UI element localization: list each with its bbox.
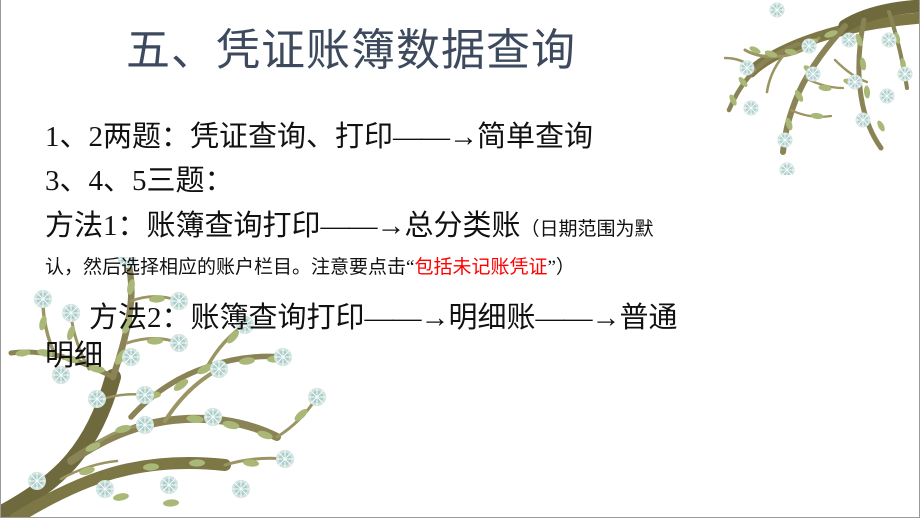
method-1-label: 方法1：账簿查询打印 bbox=[45, 210, 321, 242]
bullet-line-1-prefix: 1、2两题：凭证查询、打印 bbox=[45, 121, 393, 153]
bullet-line-1-suffix: 简单查询 bbox=[477, 121, 593, 153]
slide-canvas: 五、凭证账簿数据查询 1、2两题：凭证查询、打印——→简单查询 3、4、5三题：… bbox=[0, 0, 920, 518]
bullet-line-2: 3、4、5三题： bbox=[45, 162, 685, 200]
method-1-target: 总分类账 bbox=[405, 210, 521, 242]
bullet-line-2-text: 3、4、5三题： bbox=[45, 165, 234, 197]
arrow-icon-4: ——→ bbox=[536, 302, 620, 334]
method-1-note-highlight: 包括未记账凭证 bbox=[414, 257, 547, 278]
page-title: 五、凭证账簿数据查询 bbox=[1, 26, 701, 77]
method-2-target-1: 明细账 bbox=[449, 302, 536, 334]
arrow-icon-1: ——→ bbox=[393, 121, 477, 153]
body-text-block: 1、2两题：凭证查询、打印——→简单查询 3、4、5三题： 方法1：账簿查询打印… bbox=[45, 118, 685, 376]
method-1-note-close: ”） bbox=[547, 257, 574, 278]
arrow-icon-2: ——→ bbox=[321, 210, 405, 242]
arrow-icon-3: ——→ bbox=[365, 302, 449, 334]
method-2-block: 方法2：账簿查询打印——→明细账——→普通明细 bbox=[45, 299, 685, 376]
method-2-label: 方法2：账簿查询打印 bbox=[89, 302, 365, 334]
bullet-line-1: 1、2两题：凭证查询、打印——→简单查询 bbox=[45, 118, 685, 156]
method-2-inner: 方法2：账簿查询打印——→明细账——→普通明细 bbox=[45, 299, 685, 376]
method-1-block: 方法1：账簿查询打印——→总分类账（日期范围为默认，然后选择相应的账户栏目。注意… bbox=[45, 207, 685, 284]
